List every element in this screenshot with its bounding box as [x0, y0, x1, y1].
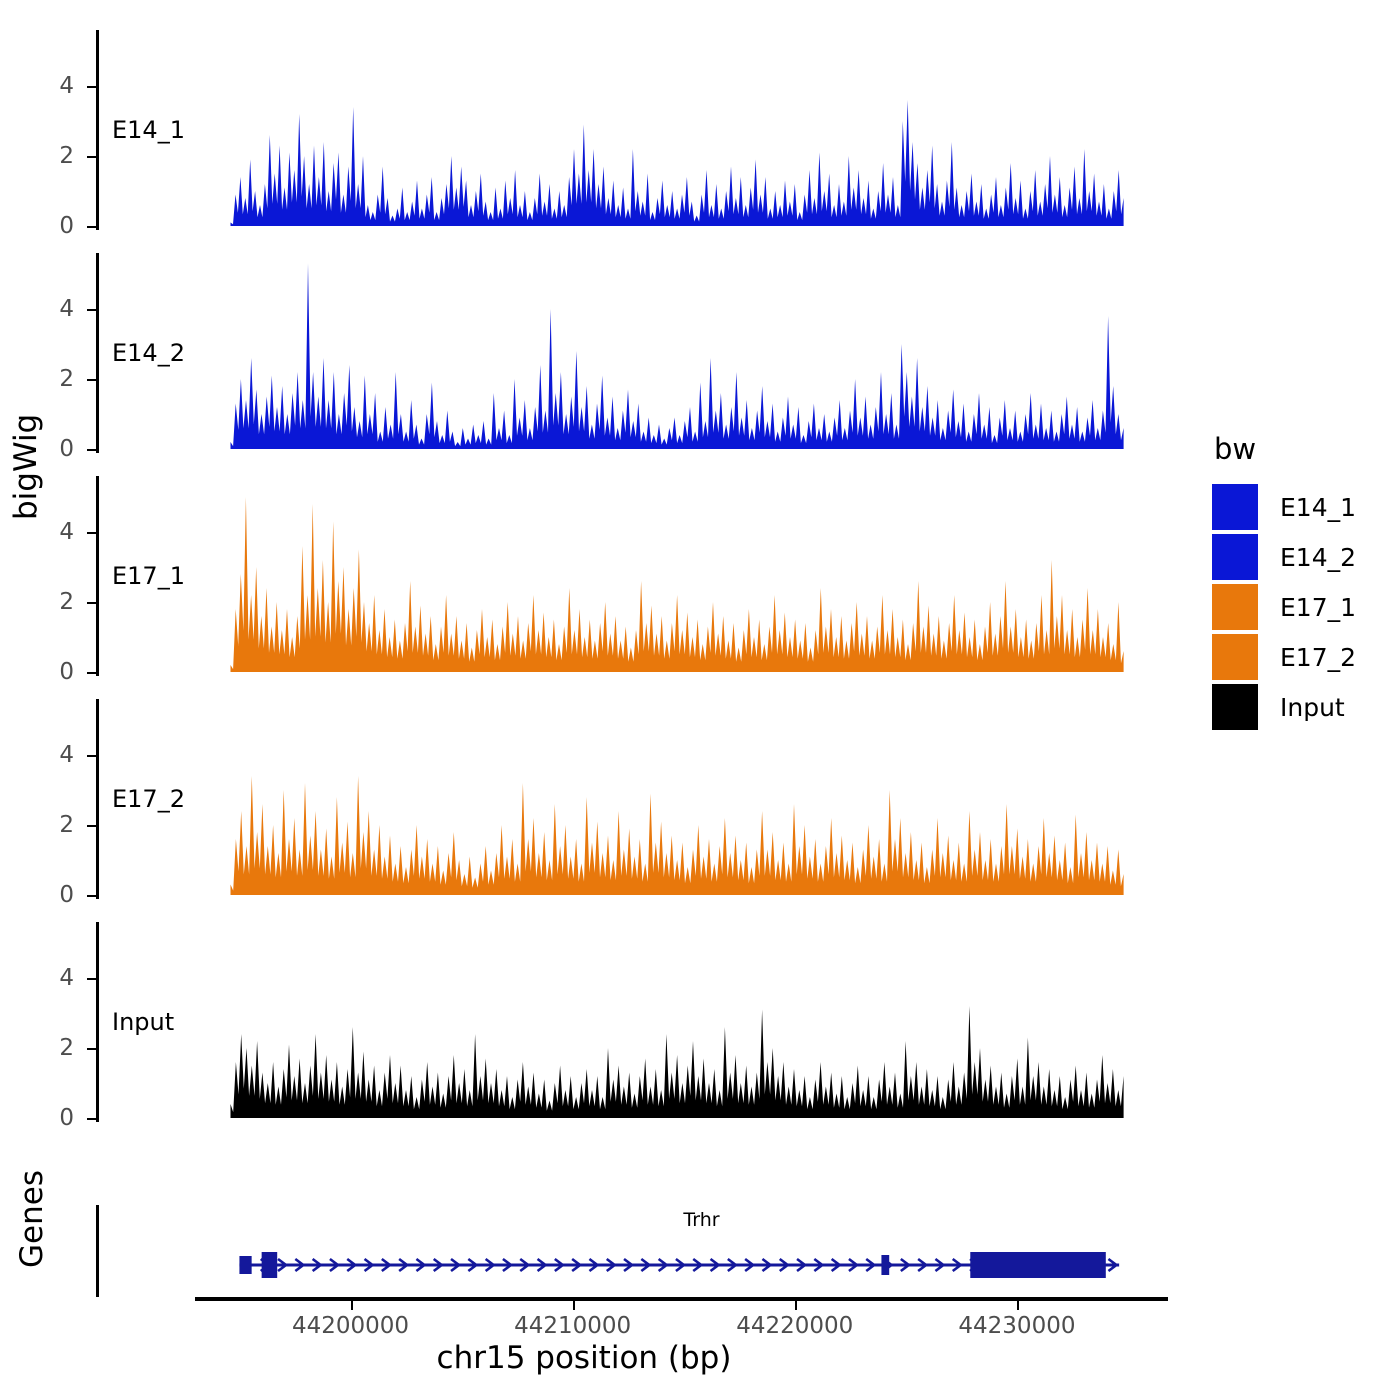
gene-name-label: Trhr	[683, 1209, 719, 1231]
y-tick-mark	[87, 895, 96, 897]
legend-item-e14_1[interactable]: E14_1	[1212, 482, 1356, 532]
legend-color-swatch	[1212, 584, 1258, 630]
legend-color-swatch	[1212, 684, 1258, 730]
signal-area-input	[195, 922, 1168, 1122]
panel-axis-line	[96, 30, 99, 230]
x-tick-mark	[351, 1301, 353, 1310]
y-tick-mark	[87, 309, 96, 311]
y-tick-mark	[87, 86, 96, 88]
track-name-label: E14_1	[112, 116, 185, 144]
y-tick-label: 2	[34, 1035, 74, 1061]
plot-root: bigWig Genes chr15 position (bp) 024E14_…	[0, 0, 1400, 1400]
y-tick-label: 0	[34, 213, 74, 239]
legend-color-swatch	[1212, 484, 1258, 530]
legend: bw E14_1E14_2E17_1E17_2Input	[1212, 432, 1356, 732]
x-tick-label: 44210000	[514, 1313, 631, 1339]
legend-items: E14_1E14_2E17_1E17_2Input	[1212, 482, 1356, 732]
y-tick-label: 2	[34, 589, 74, 615]
signal-area-e17_1	[195, 476, 1168, 676]
y-tick-mark	[87, 379, 96, 381]
y-tick-mark	[87, 978, 96, 980]
track-name-label: Input	[112, 1008, 174, 1036]
legend-item-label: Input	[1280, 693, 1345, 722]
y-tick-label: 0	[34, 882, 74, 908]
legend-item-label: E14_1	[1280, 493, 1356, 522]
y-tick-label: 4	[34, 742, 74, 768]
y-tick-label: 4	[34, 296, 74, 322]
x-tick-label: 44200000	[292, 1313, 409, 1339]
track-panel-input: 024Input	[96, 922, 1168, 1122]
x-tick-label: 44220000	[736, 1313, 853, 1339]
y-tick-label: 2	[34, 143, 74, 169]
signal-area-e14_1	[195, 30, 1168, 230]
y-tick-label: 4	[34, 73, 74, 99]
legend-item-label: E17_2	[1280, 643, 1356, 672]
y-tick-label: 4	[34, 965, 74, 991]
x-tick-mark	[573, 1301, 575, 1310]
legend-color-swatch	[1212, 634, 1258, 680]
y-tick-mark	[87, 1118, 96, 1120]
legend-item-label: E14_2	[1280, 543, 1356, 572]
legend-item-e17_2[interactable]: E17_2	[1212, 632, 1356, 682]
y-tick-mark	[87, 156, 96, 158]
x-axis-line	[195, 1297, 1168, 1301]
gene-model	[0, 1237, 1400, 1297]
legend-title: bw	[1214, 432, 1356, 466]
y-tick-mark	[87, 825, 96, 827]
signal-area-e14_2	[195, 253, 1168, 453]
y-tick-mark	[87, 672, 96, 674]
x-tick-label: 44230000	[958, 1313, 1075, 1339]
legend-item-e14_2[interactable]: E14_2	[1212, 532, 1356, 582]
legend-item-input[interactable]: Input	[1212, 682, 1356, 732]
y-tick-mark	[87, 602, 96, 604]
x-axis-title: chr15 position (bp)	[0, 1340, 1168, 1376]
legend-item-e17_1[interactable]: E17_1	[1212, 582, 1356, 632]
x-tick-mark	[795, 1301, 797, 1310]
legend-color-swatch	[1212, 534, 1258, 580]
track-panel-e14_1: 024E14_1	[96, 30, 1168, 230]
y-tick-mark	[87, 532, 96, 534]
track-name-label: E17_1	[112, 562, 185, 590]
track-panel-e17_2: 024E17_2	[96, 699, 1168, 899]
track-panel-e17_1: 024E17_1	[96, 476, 1168, 676]
legend-item-label: E17_1	[1280, 593, 1356, 622]
track-name-label: E14_2	[112, 339, 185, 367]
panel-axis-line	[96, 699, 99, 899]
y-tick-label: 0	[34, 436, 74, 462]
y-tick-label: 0	[34, 1105, 74, 1131]
track-panel-e14_2: 024E14_2	[96, 253, 1168, 453]
y-tick-mark	[87, 449, 96, 451]
track-name-label: E17_2	[112, 785, 185, 813]
panel-axis-line	[96, 922, 99, 1122]
y-tick-mark	[87, 1048, 96, 1050]
x-tick-mark	[1017, 1301, 1019, 1310]
y-tick-label: 0	[34, 659, 74, 685]
panel-axis-line	[96, 253, 99, 453]
y-tick-label: 2	[34, 812, 74, 838]
y-tick-label: 4	[34, 519, 74, 545]
y-tick-mark	[87, 755, 96, 757]
y-axis-title: bigWig	[8, 414, 44, 520]
y-tick-mark	[87, 226, 96, 228]
panel-axis-line	[96, 476, 99, 676]
y-tick-label: 2	[34, 366, 74, 392]
signal-area-e17_2	[195, 699, 1168, 899]
